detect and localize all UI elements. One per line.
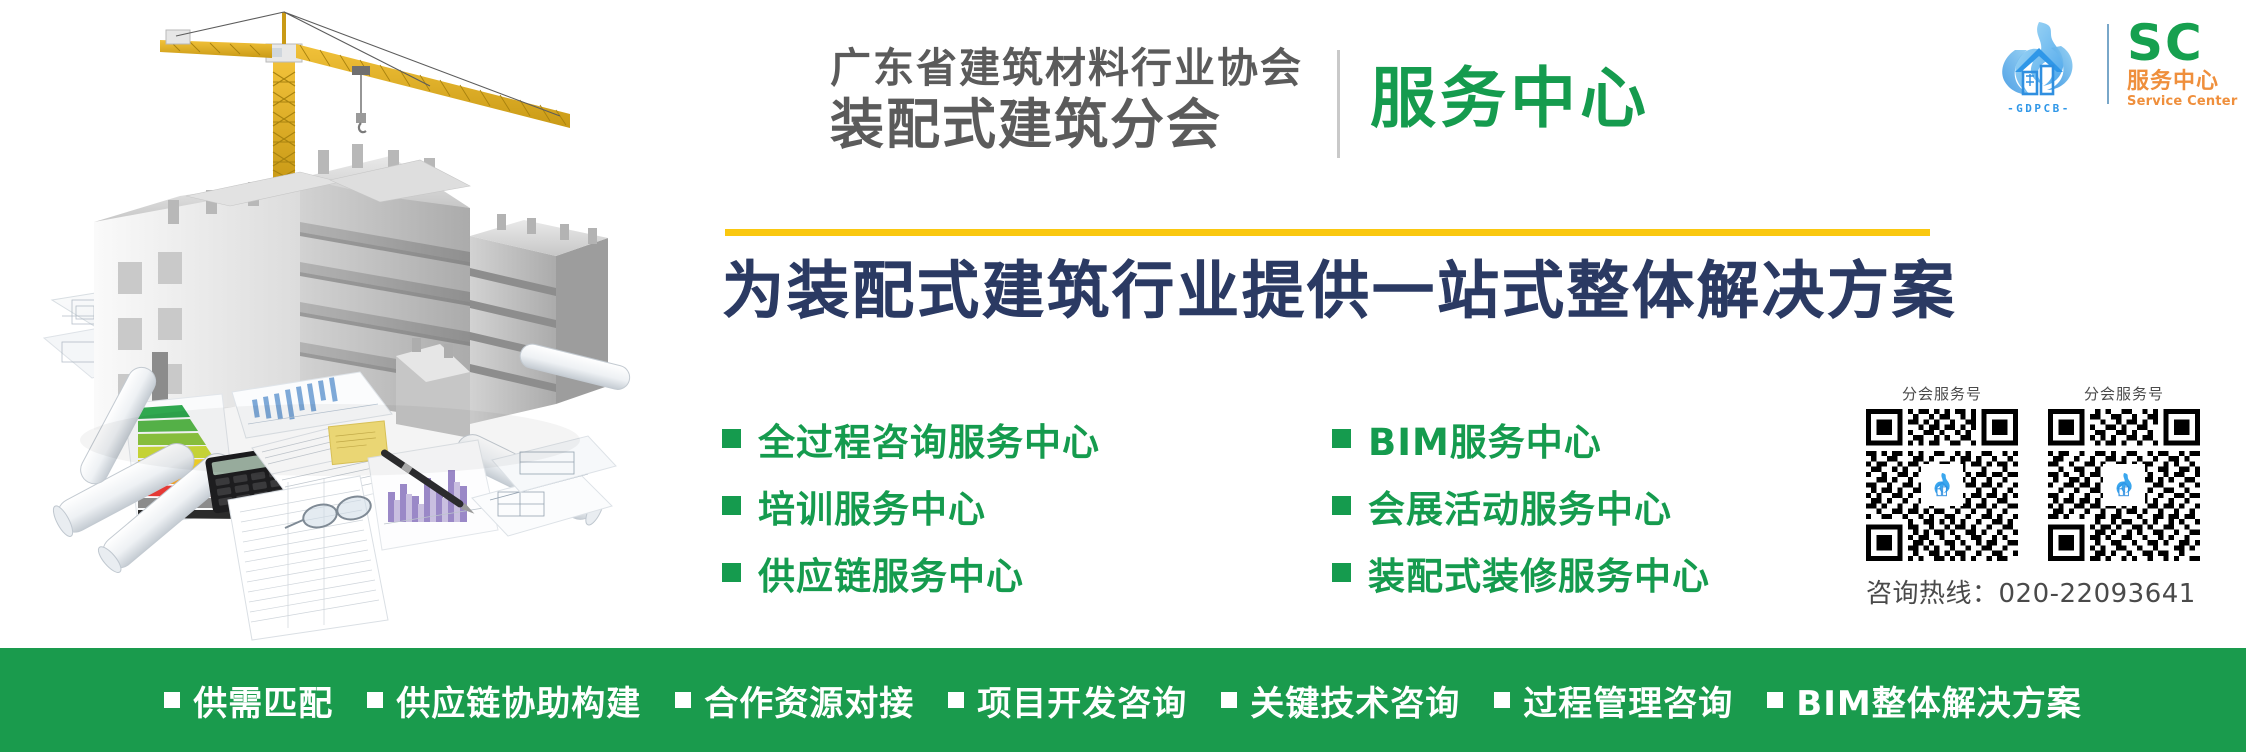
construction-site-model-photo (0, 0, 660, 648)
square-bullet-icon (675, 692, 691, 708)
square-bullet-icon (722, 563, 741, 582)
bottom-bar-label: 项目开发咨询 (977, 676, 1187, 725)
bottom-bar-label: 过程管理咨询 (1523, 676, 1733, 725)
branch-name: 装配式建筑分会 (830, 98, 1222, 152)
bottom-bar-items: 供需匹配 供应链协助构建 合作资源对接 项目开发咨询 关键技术咨询 过程管理咨询 (164, 676, 2081, 725)
brand-names: 广东省建筑材料行业协会 装配式建筑分会 (830, 48, 1303, 152)
yellow-divider-rule (725, 229, 1930, 236)
bottom-service-bar: 供需匹配 供应链协助构建 合作资源对接 项目开发咨询 关键技术咨询 过程管理咨询 (0, 648, 2246, 752)
list-item[interactable]: 培训服务中心 (722, 472, 1332, 539)
list-item[interactable]: 供应链服务中心 (722, 539, 1332, 606)
bottom-bar-label: 合作资源对接 (704, 676, 914, 725)
square-bullet-icon (1221, 692, 1237, 708)
square-bullet-icon (948, 692, 964, 708)
service-label: 装配式装修服务中心 (1368, 546, 1710, 600)
list-item[interactable]: BIM服务中心 (1332, 405, 1812, 472)
service-label: 全过程咨询服务中心 (758, 412, 1100, 466)
qr-row: 分会服务号 (1862, 383, 2234, 561)
list-item[interactable]: 供应链协助构建 (367, 676, 641, 725)
bottom-bar-label: BIM整体解决方案 (1796, 676, 2081, 725)
qr-contact-block: 分会服务号 (1862, 383, 2234, 610)
logo-wordmark: SC 服务中心 Service Center (2127, 18, 2237, 108)
service-list: 全过程咨询服务中心 培训服务中心 供应链服务中心 BIM服务中心 会展活动服务中… (722, 405, 1822, 606)
square-bullet-icon (367, 692, 383, 708)
page-title: 为装配式建筑行业提供一站式整体解决方案 (722, 258, 1952, 323)
bottom-bar-label: 供需匹配 (193, 676, 333, 725)
service-label: BIM服务中心 (1368, 412, 1602, 466)
logo-english-label: Service Center (2127, 95, 2237, 108)
logo-initials: SC (2127, 18, 2204, 68)
square-bullet-icon (722, 429, 741, 448)
service-center-title: 服务中心 (1370, 66, 1650, 132)
hotline-text: 咨询热线：020-22093641 (1862, 573, 2234, 610)
promotional-banner: 广东省建筑材料行业协会 装配式建筑分会 服务中心 为装配式建筑行业提供一站式整体… (0, 0, 2246, 752)
qr-code-icon[interactable] (1866, 409, 2018, 561)
qr-caption: 分会服务号 (2084, 383, 2164, 404)
bottom-bar-label: 供应链协助构建 (396, 676, 641, 725)
header-divider (1337, 50, 1340, 158)
list-item[interactable]: 项目开发咨询 (948, 676, 1187, 725)
flame-house-icon (2103, 464, 2145, 506)
square-bullet-icon (1332, 496, 1351, 515)
qr-code-icon[interactable] (2048, 409, 2200, 561)
service-label: 培训服务中心 (758, 479, 986, 533)
list-item[interactable]: 过程管理咨询 (1494, 676, 1733, 725)
list-item[interactable]: 全过程咨询服务中心 (722, 405, 1332, 472)
flame-house-icon: -GDPCB- (1985, 18, 2093, 114)
service-column-left: 全过程咨询服务中心 培训服务中心 供应链服务中心 (722, 405, 1332, 606)
square-bullet-icon (1332, 429, 1351, 448)
list-item[interactable]: 关键技术咨询 (1221, 676, 1460, 725)
qr-caption: 分会服务号 (1902, 383, 1982, 404)
flame-house-icon (1921, 464, 1963, 506)
square-bullet-icon (722, 496, 741, 515)
service-label: 供应链服务中心 (758, 546, 1024, 600)
square-bullet-icon (164, 692, 180, 708)
list-item[interactable]: 供需匹配 (164, 676, 333, 725)
list-item[interactable]: BIM整体解决方案 (1767, 676, 2081, 725)
service-label: 会展活动服务中心 (1368, 479, 1672, 533)
qr-cell: 分会服务号 (1862, 383, 2022, 561)
square-bullet-icon (1494, 692, 1510, 708)
logo-divider (2107, 24, 2109, 104)
bottom-bar-label: 关键技术咨询 (1250, 676, 1460, 725)
association-name: 广东省建筑材料行业协会 (830, 48, 1303, 89)
list-item[interactable]: 装配式装修服务中心 (1332, 539, 1812, 606)
brand-header: 广东省建筑材料行业协会 装配式建筑分会 服务中心 (830, 48, 1650, 158)
square-bullet-icon (1332, 563, 1351, 582)
logo-mark-caption: -GDPCB- (1985, 102, 2093, 115)
list-item[interactable]: 合作资源对接 (675, 676, 914, 725)
sc-logo[interactable]: -GDPCB- SC 服务中心 Service Center (1985, 18, 2237, 114)
list-item[interactable]: 会展活动服务中心 (1332, 472, 1812, 539)
qr-cell: 分会服务号 (2044, 383, 2204, 561)
logo-chinese-label: 服务中心 (2127, 71, 2219, 93)
square-bullet-icon (1767, 692, 1783, 708)
service-column-right: BIM服务中心 会展活动服务中心 装配式装修服务中心 (1332, 405, 1812, 606)
